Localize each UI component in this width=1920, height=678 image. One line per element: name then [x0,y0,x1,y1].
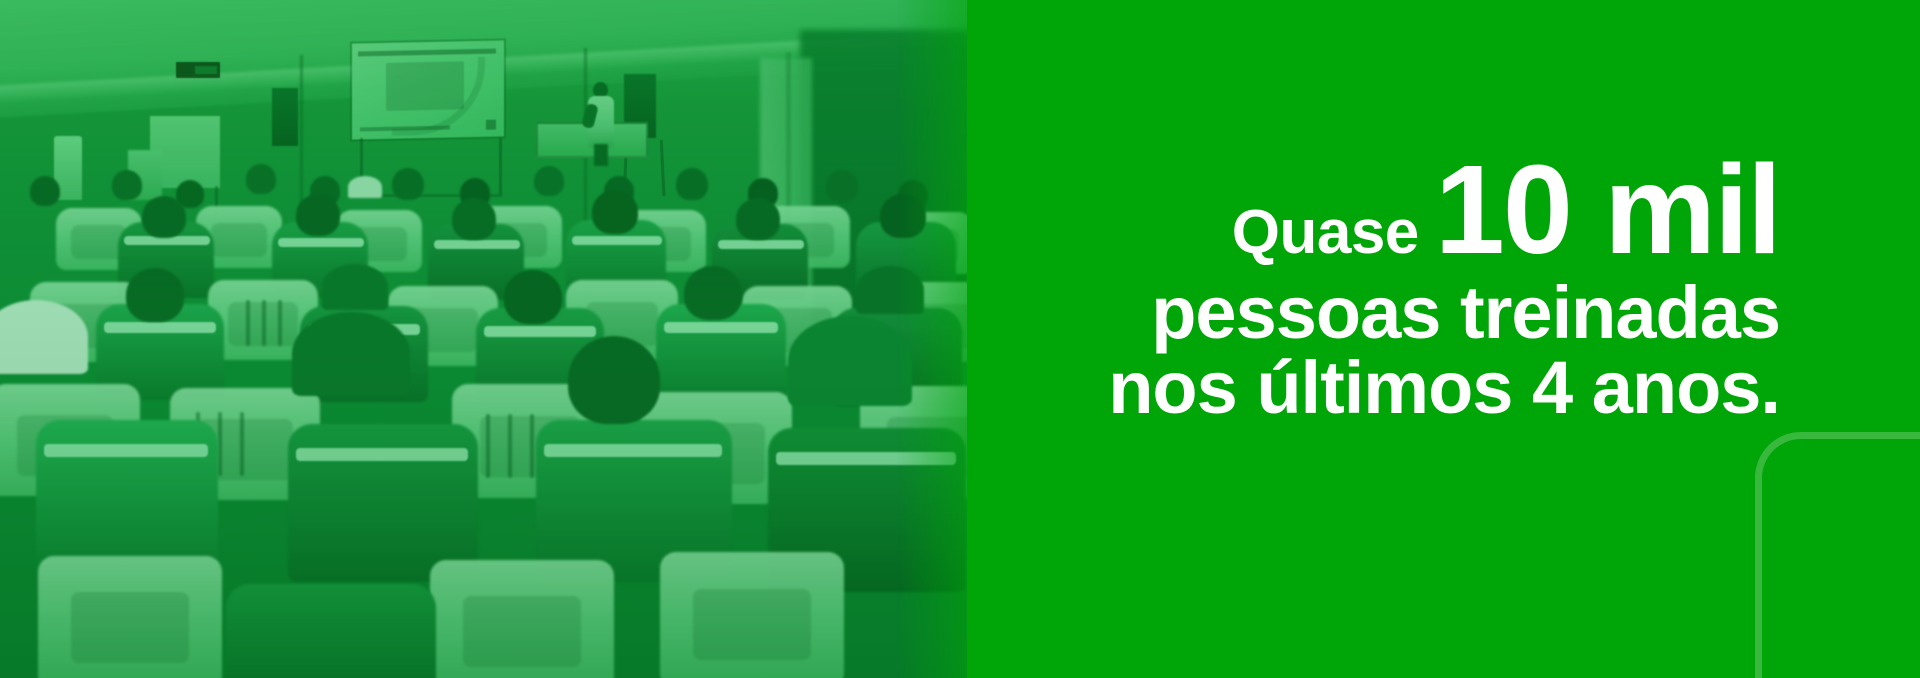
headline-line-2: pessoas treinadas [967,277,1780,348]
shirt-stripe [44,444,208,457]
shirt-stripe [484,326,596,337]
headline-lead: Quase [1232,198,1419,267]
headline-line-1: Quase10 mil [967,150,1780,271]
audience-cap [292,312,410,396]
plastic-chair [660,552,844,678]
audience-head [392,168,424,200]
audience-head [592,190,638,234]
plastic-chair [430,560,614,678]
audience-torso [226,584,436,678]
audience-head [684,266,742,320]
plastic-chair [38,556,222,678]
shirt-stripe [104,322,216,333]
headline-panel: Quase10 mil pessoas treinadas nos último… [967,0,1920,678]
shirt-stripe [776,452,956,465]
audience-cap [322,264,388,310]
training-photo [0,0,967,678]
audience-cap [348,176,382,198]
audience-head [534,166,564,196]
audience-head [296,194,340,236]
headline: Quase10 mil pessoas treinadas nos último… [967,150,1780,423]
shirt-stripe [296,448,468,461]
shirt-stripe [664,322,778,333]
audience-head [112,170,142,200]
headline-line-3: nos últimos 4 anos. [967,352,1780,423]
corner-decoration [1755,432,1920,678]
audience-head [736,198,780,240]
chair-backrest-slats [246,300,296,346]
audience-head [880,194,926,238]
headline-number: 10 mil [1435,139,1780,280]
audience-head [30,176,60,206]
audience-head [504,270,562,324]
audience [0,0,967,678]
audience-cap [788,316,912,406]
shirt-stripe [434,240,520,249]
shirt-stripe [718,240,804,249]
audience-head [246,164,276,194]
audience-head [676,168,708,200]
audience-head [142,196,186,238]
shirt-stripe [278,238,364,247]
audience-cap [856,266,924,314]
audience-head [568,336,660,424]
audience-head [452,198,496,240]
stat-banner: Quase10 mil pessoas treinadas nos último… [0,0,1920,678]
shirt-stripe [544,444,722,457]
audience-head [126,268,184,322]
audience-torso [36,420,218,570]
audience-head [826,170,858,202]
shirt-stripe [572,236,662,245]
